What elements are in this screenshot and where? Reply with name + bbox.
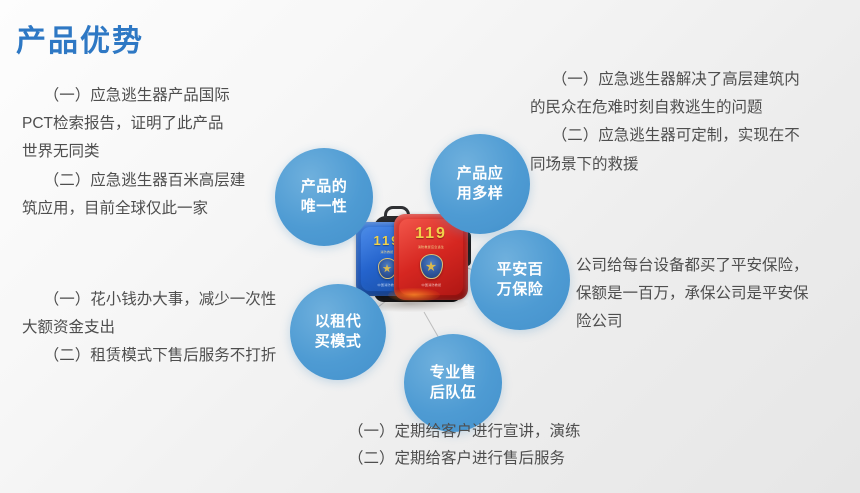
bubble-product-uniqueness[interactable]: 产品的 唯一性: [275, 148, 373, 246]
backpack-blue-subtext: 消防救援: [380, 249, 393, 254]
bubble-rental-model[interactable]: 以租代 买模式: [290, 284, 386, 380]
fire-service-emblem-icon: [420, 254, 443, 279]
bubble-versatile-line1: 产品应: [457, 164, 504, 184]
bubble-service-line1: 专业售: [430, 363, 477, 383]
text-line: （一）定期给客户进行宣讲，演练: [348, 418, 581, 445]
bubble-rental-line2: 买模式: [315, 332, 362, 352]
bubble-versatile-line2: 用多样: [457, 184, 504, 204]
product-glow: [388, 288, 440, 302]
bubble-product-versatility[interactable]: 产品应 用多样: [430, 134, 530, 234]
bubble-pingan-insurance[interactable]: 平安百 万保险: [470, 230, 570, 330]
text-block-insurance: 公司给每台设备都买了平安保险， 保额是一百万，承保公司是平安保 险公司: [576, 252, 809, 337]
text-block-rental-model: （一）花小钱办大事，减少一次性 大额资金支出 （二）租赁模式下售后服务不打折: [22, 286, 276, 371]
text-line: 世界无同类: [22, 138, 245, 166]
bubble-insurance-line2: 万保险: [497, 280, 544, 300]
text-line: （一）花小钱办大事，减少一次性: [22, 286, 276, 314]
text-line: 筑应用，目前全球仅此一家: [22, 195, 245, 223]
page-title: 产品优势: [16, 16, 144, 60]
text-line: 大额资金支出: [22, 314, 276, 342]
backpack-red-subtext: 消防救援应急逃生: [418, 244, 445, 249]
backpack-red-face: 119 消防救援应急逃生 中国消防救援: [399, 219, 463, 295]
text-line: 公司给每台设备都买了平安保险，: [576, 252, 809, 280]
bubble-uniqueness-line2: 唯一性: [301, 197, 348, 217]
text-line: 险公司: [576, 308, 809, 336]
text-line: PCT检索报告，证明了此产品: [22, 110, 245, 138]
backpack-red-brand: 中国消防救援: [421, 282, 441, 287]
text-line: （一）应急逃生器产品国际: [22, 82, 245, 110]
text-block-versatility: （一）应急逃生器解决了高层建筑内 的民众在危难时刻自救逃生的问题 （二）应急逃生…: [530, 66, 800, 179]
text-line: （二）应急逃生器可定制，实现在不: [530, 122, 800, 150]
text-block-after-sales: （一）定期给客户进行宣讲，演练 （二）定期给客户进行售后服务: [348, 418, 581, 472]
text-line: （二）定期给客户进行售后服务: [348, 445, 581, 472]
slide-canvas: 产品优势 119 消防救援 中国消防救援 119 消: [0, 0, 860, 493]
bubble-rental-line1: 以租代: [315, 312, 362, 332]
text-line: 同场景下的救援: [530, 151, 800, 179]
text-line: 的民众在危难时刻自救逃生的问题: [530, 94, 800, 122]
text-line: （一）应急逃生器解决了高层建筑内: [530, 66, 800, 94]
text-line: 保额是一百万，承保公司是平安保: [576, 280, 809, 308]
backpack-red-number: 119: [415, 226, 447, 242]
bubble-insurance-line1: 平安百: [497, 260, 544, 280]
bubble-uniqueness-line1: 产品的: [301, 177, 348, 197]
text-line: （二）应急逃生器百米高层建: [22, 167, 245, 195]
bubble-service-line2: 后队伍: [430, 383, 477, 403]
text-block-uniqueness: （一）应急逃生器产品国际 PCT检索报告，证明了此产品 世界无同类 （二）应急逃…: [22, 82, 245, 223]
text-line: （二）租赁模式下售后服务不打折: [22, 342, 276, 370]
